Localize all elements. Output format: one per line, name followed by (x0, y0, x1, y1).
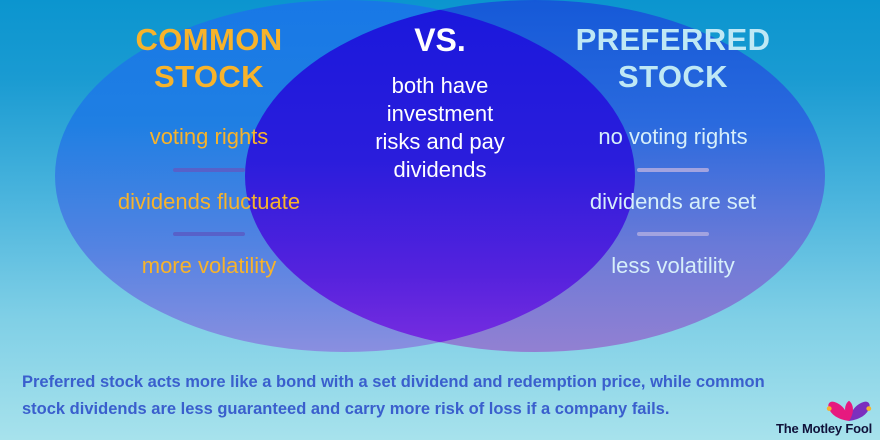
overlap-body-line1: both have (392, 73, 489, 98)
motley-fool-logo: The Motley Fool (776, 400, 872, 435)
overlap-body: both have investment risks and pay divid… (352, 72, 528, 185)
preferred-stock-title: PREFERRED STOCK (528, 22, 818, 95)
caption: Preferred stock acts more like a bond wi… (22, 369, 834, 422)
common-stock-divider-1 (173, 168, 245, 172)
vs-label: VS. (352, 22, 528, 60)
common-stock-item-2: dividends fluctuate (64, 188, 354, 216)
preferred-stock-item-1: no voting rights (528, 123, 818, 151)
common-stock-item-3: more volatility (64, 252, 354, 280)
overlap-body-line4: dividends (394, 157, 487, 182)
preferred-stock-column: PREFERRED STOCK no voting rights dividen… (528, 22, 818, 280)
common-stock-title-line1: COMMON (135, 22, 282, 57)
preferred-stock-title-line2: STOCK (618, 59, 728, 94)
jester-hat-icon (826, 400, 872, 422)
preferred-stock-item-2: dividends are set (528, 188, 818, 216)
common-stock-column: COMMON STOCK voting rights dividends flu… (64, 22, 354, 280)
venn-infographic: COMMON STOCK voting rights dividends flu… (0, 0, 880, 440)
common-stock-item-1: voting rights (64, 123, 354, 151)
overlap-body-line2: investment (387, 101, 493, 126)
overlap-body-line3: risks and pay (375, 129, 505, 154)
preferred-stock-title-line1: PREFERRED (576, 22, 771, 57)
preferred-stock-divider-1 (637, 168, 709, 172)
common-stock-title-line2: STOCK (154, 59, 264, 94)
caption-line-2: stock dividends are less guaranteed and … (22, 396, 834, 423)
caption-line-1: Preferred stock acts more like a bond wi… (22, 369, 834, 396)
common-stock-divider-2 (173, 232, 245, 236)
common-stock-title: COMMON STOCK (64, 22, 354, 95)
motley-fool-wordmark: The Motley Fool (776, 422, 872, 435)
preferred-stock-divider-2 (637, 232, 709, 236)
overlap-column: VS. both have investment risks and pay d… (352, 22, 528, 184)
preferred-stock-item-3: less volatility (528, 252, 818, 280)
